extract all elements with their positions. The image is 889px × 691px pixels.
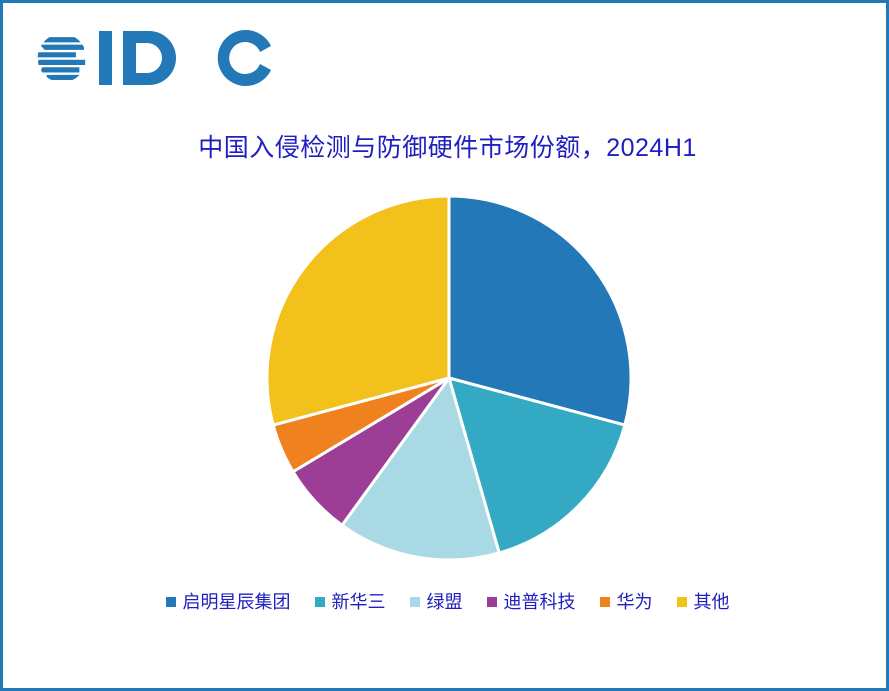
chart-legend: 启明星辰集团新华三绿盟迪普科技华为其他	[3, 591, 889, 613]
pie-chart-svg: 启明星辰集团 29.2%新华三 16.4%绿盟 14.4%迪普科技 6.4%华为…	[267, 189, 641, 567]
legend-swatch-icon	[487, 597, 497, 607]
legend-item-label: 华为	[617, 591, 653, 613]
slide-canvas: 中国入侵检测与防御硬件市场份额，2024H1 启明星辰集团 29.2%新华三 1…	[0, 0, 889, 691]
idc-globe-icon	[33, 29, 91, 87]
legend-item-label: 迪普科技	[504, 591, 576, 613]
idc-logo	[33, 27, 213, 89]
legend-swatch-icon	[600, 597, 610, 607]
legend-swatch-icon	[166, 597, 176, 607]
legend-item[interactable]: 新华三	[315, 591, 386, 613]
legend-swatch-icon	[315, 597, 325, 607]
chart-title: 中国入侵检测与防御硬件市场份额，2024H1	[3, 131, 889, 165]
legend-item-label: 绿盟	[427, 591, 463, 613]
legend-item[interactable]: 迪普科技	[487, 591, 576, 613]
legend-swatch-icon	[677, 597, 687, 607]
idc-wordmark	[97, 29, 273, 87]
pie-chart: 启明星辰集团 29.2%新华三 16.4%绿盟 14.4%迪普科技 6.4%华为…	[3, 189, 889, 579]
legend-item[interactable]: 华为	[600, 591, 653, 613]
legend-swatch-icon	[410, 597, 420, 607]
legend-item[interactable]: 其他	[677, 591, 730, 613]
legend-item[interactable]: 启明星辰集团	[166, 591, 291, 613]
legend-item-label: 新华三	[332, 591, 386, 613]
legend-item-label: 其他	[694, 591, 730, 613]
legend-item-label: 启明星辰集团	[183, 591, 291, 613]
pie-slice-group: 启明星辰集团 29.2%新华三 16.4%绿盟 14.4%迪普科技 6.4%华为…	[267, 196, 631, 560]
legend-item[interactable]: 绿盟	[410, 591, 463, 613]
